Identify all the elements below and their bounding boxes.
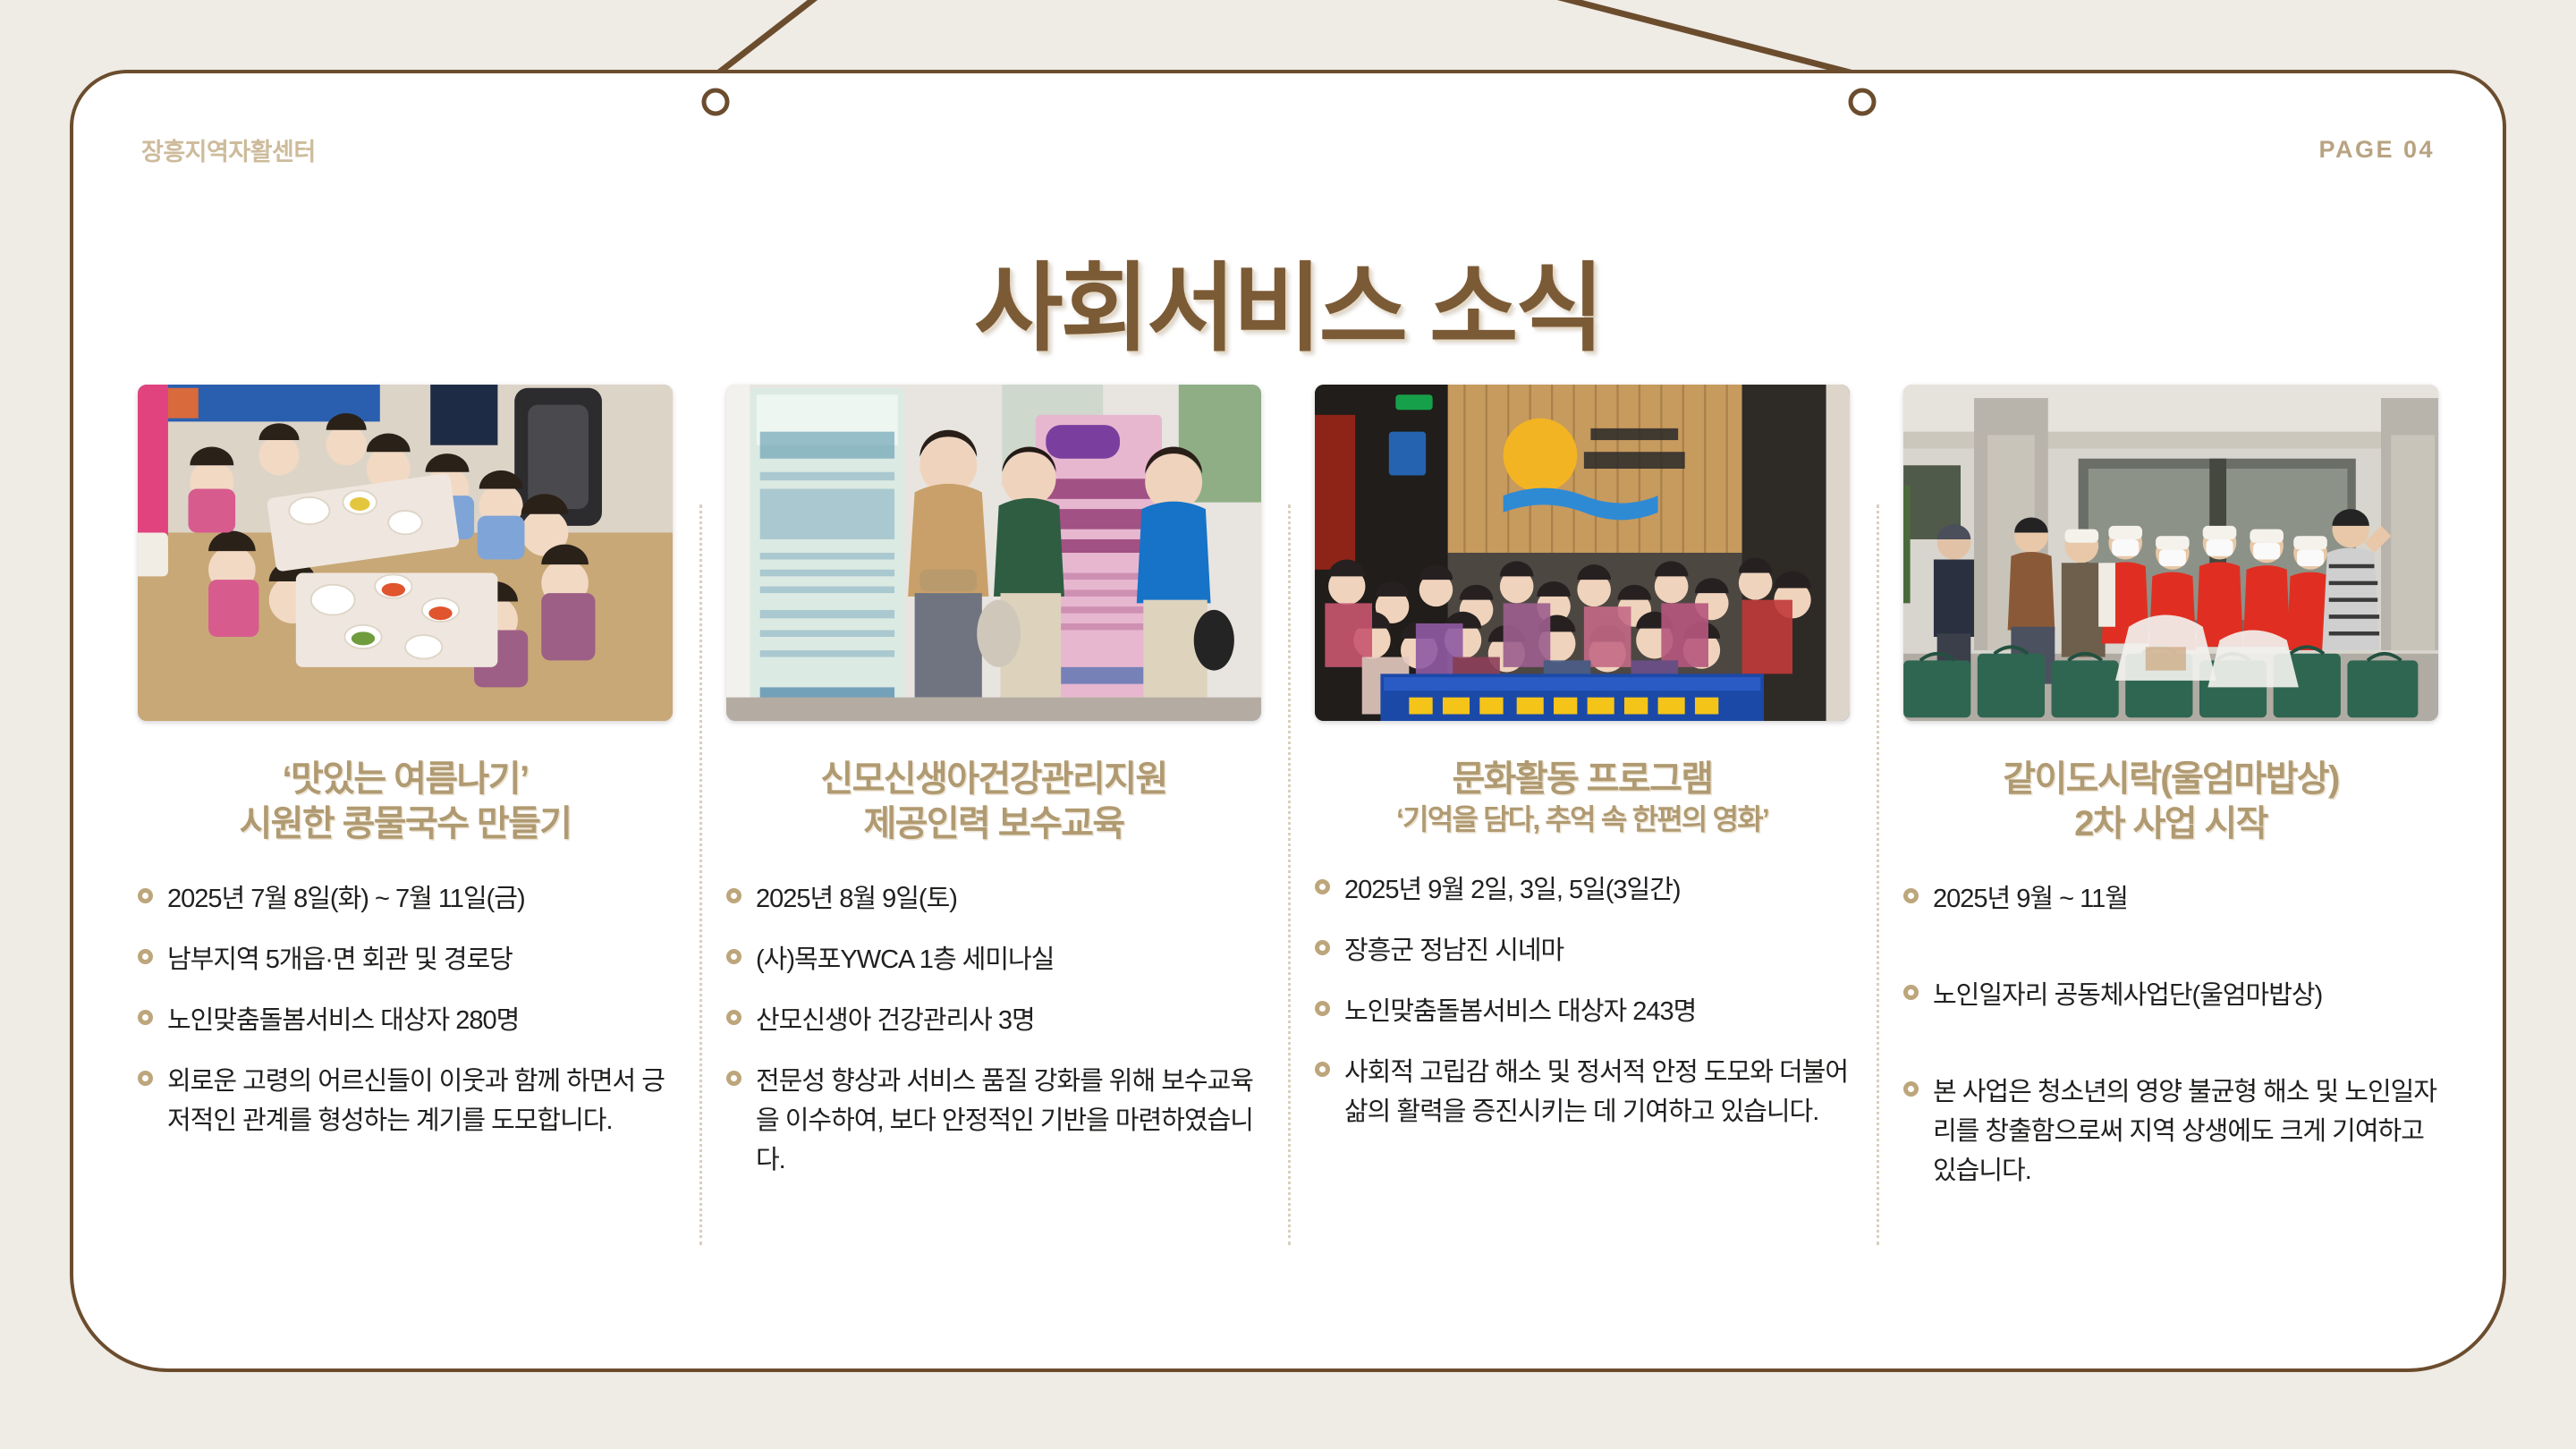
bullet-text: 장흥군 정남진 시네마 — [1344, 931, 1563, 970]
page-header: 장흥지역자활센터 PAGE 04 — [141, 129, 2435, 170]
bullet-text: 2025년 7월 8일(화) ~ 7월 11일(금) — [167, 879, 525, 919]
bullet-text: 외로운 고령의 어르신들이 이웃과 함께 하면서 긍저적인 관계를 형성하는 계… — [167, 1062, 673, 1140]
article-photo-1 — [138, 385, 673, 721]
bullet-ring-icon — [726, 949, 741, 964]
bullet-item: 본 사업은 청소년의 영양 불균형 해소 및 노인일자리를 창출함으로써 지역 … — [1903, 1072, 2438, 1191]
bullet-item: 노인맞춤돌봄서비스 대상자 280명 — [138, 1001, 673, 1040]
bullet-ring-icon — [138, 1010, 153, 1025]
headline-line-2: 제공인력 보수교육 — [726, 801, 1261, 846]
bullet-item: 2025년 9월 2일, 3일, 5일(3일간) — [1315, 870, 1850, 910]
article-column-1: ‘맛있는 여름나기’ 시원한 콩물국수 만들기 2025년 7월 8일(화) ~… — [111, 385, 699, 1315]
article-bullets-2: 2025년 8월 9일(토) (사)목포YWCA 1층 세미나실 산모신생아 건… — [726, 879, 1261, 1201]
headline-line-1: 신모신생아건강관리지원 — [726, 757, 1261, 801]
bullet-ring-icon — [138, 1071, 153, 1086]
bullet-text: 남부지역 5개읍·면 회관 및 경로당 — [167, 940, 513, 979]
bullet-text: (사)목포YWCA 1층 세미나실 — [756, 940, 1054, 979]
bullet-text: 전문성 향상과 서비스 품질 강화를 위해 보수교육을 이수하여, 보다 안정적… — [756, 1062, 1261, 1180]
article-columns: ‘맛있는 여름나기’ 시원한 콩물국수 만들기 2025년 7월 8일(화) ~… — [111, 385, 2465, 1315]
bullet-ring-icon — [1315, 1001, 1330, 1016]
headline-line-1: ‘맛있는 여름나기’ — [138, 757, 673, 801]
article-headline-2: 신모신생아건강관리지원 제공인력 보수교육 — [726, 757, 1261, 847]
article-bullets-1: 2025년 7월 8일(화) ~ 7월 11일(금) 남부지역 5개읍·면 회관… — [138, 879, 673, 1162]
bullet-ring-icon — [726, 1071, 741, 1086]
bullet-ring-icon — [1903, 985, 1919, 1000]
newsletter-card: 장흥지역자활센터 PAGE 04 사회서비스 소식 — [70, 70, 2506, 1372]
headline-line-2: 시원한 콩물국수 만들기 — [138, 801, 673, 846]
bullet-item: 노인맞춤돌봄서비스 대상자 243명 — [1315, 992, 1850, 1031]
bullet-item: (사)목포YWCA 1층 세미나실 — [726, 940, 1261, 979]
bullet-ring-icon — [1903, 888, 1919, 903]
page-title: 사회서비스 소식 — [73, 231, 2503, 370]
bullet-text: 산모신생아 건강관리사 3명 — [756, 1001, 1035, 1040]
bullet-ring-icon — [1315, 1062, 1330, 1077]
article-photo-2 — [726, 385, 1261, 721]
article-column-2: 신모신생아건강관리지원 제공인력 보수교육 2025년 8월 9일(토) (사)… — [699, 385, 1288, 1315]
bullet-ring-icon — [1315, 940, 1330, 955]
bullet-text: 사회적 고립감 해소 및 정서적 안정 도모와 더불어 삶의 활력을 증진시키는… — [1344, 1053, 1850, 1131]
bullet-text: 본 사업은 청소년의 영양 불균형 해소 및 노인일자리를 창출함으로써 지역 … — [1933, 1072, 2438, 1191]
bullet-item: 전문성 향상과 서비스 품질 강화를 위해 보수교육을 이수하여, 보다 안정적… — [726, 1062, 1261, 1180]
bullet-text: 노인맞춤돌봄서비스 대상자 280명 — [167, 1001, 519, 1040]
bullet-item: 산모신생아 건강관리사 3명 — [726, 1001, 1261, 1040]
bullet-ring-icon — [1903, 1081, 1919, 1097]
bullet-item: 노인일자리 공동체사업단(울엄마밥상) — [1903, 976, 2438, 1015]
bullet-item: 사회적 고립감 해소 및 정서적 안정 도모와 더불어 삶의 활력을 증진시키는… — [1315, 1053, 1850, 1131]
bullet-text: 2025년 9월 2일, 3일, 5일(3일간) — [1344, 870, 1681, 910]
bullet-ring-icon — [726, 1010, 741, 1025]
bullet-item: 2025년 9월 ~ 11월 — [1903, 879, 2438, 919]
headline-line-2: ‘기억을 담다, 추억 속 한편의 영화’ — [1315, 801, 1850, 837]
article-column-3: 문화활동 프로그램 ‘기억을 담다, 추억 속 한편의 영화’ 2025년 9월… — [1288, 385, 1877, 1315]
headline-line-1: 같이도시락(울엄마밥상) — [1903, 757, 2438, 801]
page-number: PAGE 04 — [2318, 136, 2435, 164]
bullet-item: 남부지역 5개읍·면 회관 및 경로당 — [138, 940, 673, 979]
article-bullets-4: 2025년 9월 ~ 11월 노인일자리 공동체사업단(울엄마밥상) 본 사업은… — [1903, 879, 2438, 1212]
bullet-text: 노인일자리 공동체사업단(울엄마밥상) — [1933, 976, 2322, 1015]
article-bullets-3: 2025년 9월 2일, 3일, 5일(3일간) 장흥군 정남진 시네마 노인맞… — [1315, 870, 1850, 1153]
bullet-ring-icon — [1315, 879, 1330, 894]
bullet-text: 2025년 9월 ~ 11월 — [1933, 879, 2128, 919]
article-photo-4 — [1903, 385, 2438, 721]
article-headline-3: 문화활동 프로그램 ‘기억을 담다, 추억 속 한편의 영화’ — [1315, 757, 1850, 838]
headline-line-1: 문화활동 프로그램 — [1315, 757, 1850, 801]
organization-name: 장흥지역자활센터 — [141, 132, 316, 167]
bullet-text: 2025년 8월 9일(토) — [756, 879, 957, 919]
bullet-item: 장흥군 정남진 시네마 — [1315, 931, 1850, 970]
article-column-4: 같이도시락(울엄마밥상) 2차 사업 시작 2025년 9월 ~ 11월 노인일… — [1877, 385, 2465, 1315]
article-photo-3 — [1315, 385, 1850, 721]
bullet-text: 노인맞춤돌봄서비스 대상자 243명 — [1344, 992, 1696, 1031]
headline-line-2: 2차 사업 시작 — [1903, 801, 2438, 846]
bullet-ring-icon — [726, 888, 741, 903]
bullet-item: 2025년 8월 9일(토) — [726, 879, 1261, 919]
bullet-item: 2025년 7월 8일(화) ~ 7월 11일(금) — [138, 879, 673, 919]
bullet-ring-icon — [138, 949, 153, 964]
bullet-ring-icon — [138, 888, 153, 903]
article-headline-1: ‘맛있는 여름나기’ 시원한 콩물국수 만들기 — [138, 757, 673, 847]
bullet-item: 외로운 고령의 어르신들이 이웃과 함께 하면서 긍저적인 관계를 형성하는 계… — [138, 1062, 673, 1140]
article-headline-4: 같이도시락(울엄마밥상) 2차 사업 시작 — [1903, 757, 2438, 847]
